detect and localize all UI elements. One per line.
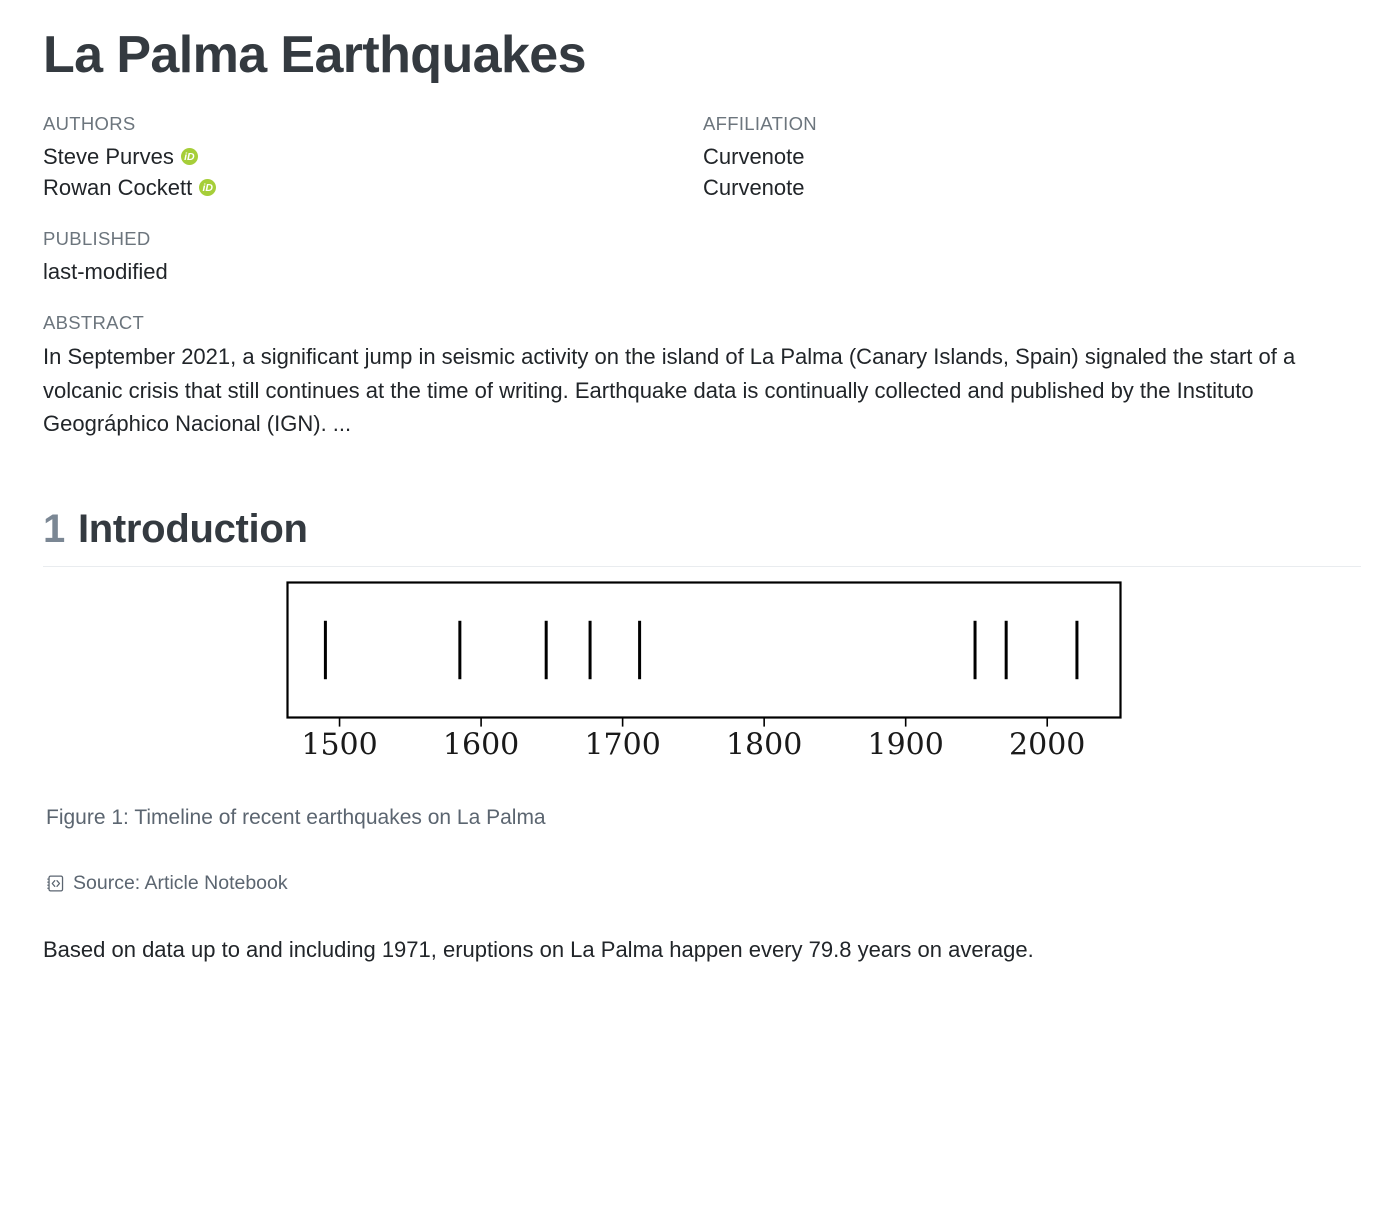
body-paragraph: Based on data up to and including 1971, … [43,933,1293,966]
figure-source-label: Source: Article Notebook [73,872,288,895]
authors-label: AUTHORS [43,110,703,138]
section-title: Introduction [78,507,308,552]
x-tick-label: 1800 [726,727,802,762]
x-tick-label: 1500 [301,727,377,762]
author-name: Rowan Cockett [43,172,192,203]
affiliation-value: Curvenote [703,141,1360,172]
figure-1: 150016001700180019002000 Figure 1: Timel… [43,567,1360,832]
x-axis-ticks [340,717,1048,726]
x-axis-tick-labels: 150016001700180019002000 [301,727,1085,762]
author-entry: Rowan Cockett [43,172,703,203]
x-tick-label: 1900 [868,727,944,762]
affiliation-value: Curvenote [703,172,1360,203]
section-number: 1 [43,507,65,552]
figure-caption: Figure 1: Timeline of recent earthquakes… [43,803,1360,832]
abstract-text: In September 2021, a significant jump in… [43,340,1353,440]
figure-source-line[interactable]: Source: Article Notebook [43,872,1360,895]
x-tick-label: 1700 [584,727,660,762]
orcid-icon[interactable] [181,148,198,165]
x-tick-label: 2000 [1009,727,1085,762]
author-name: Steve Purves [43,141,174,172]
earthquake-timeline-rugplot: 150016001700180019002000 [284,579,1144,769]
orcid-icon[interactable] [199,179,216,196]
abstract-label: ABSTRACT [43,309,1360,337]
document-page: La Palma Earthquakes AUTHORS Steve Purve… [0,0,1382,966]
published-block: PUBLISHED last-modified [43,225,1360,287]
published-label: PUBLISHED [43,225,1360,253]
affiliation-column: AFFILIATION Curvenote Curvenote [703,110,1360,203]
metadata-grid: AUTHORS Steve Purves Rowan Cockett AFFIL… [43,110,1360,203]
notebook-code-icon [46,874,65,893]
abstract-block: ABSTRACT In September 2021, a significan… [43,309,1360,440]
page-title: La Palma Earthquakes [43,26,1360,84]
affiliation-label: AFFILIATION [703,110,1360,138]
figure-plot-area: 150016001700180019002000 [43,567,1360,803]
section-heading: 1 Introduction [43,507,1360,566]
authors-column: AUTHORS Steve Purves Rowan Cockett [43,110,703,203]
plot-frame [288,582,1121,717]
author-entry: Steve Purves [43,141,703,172]
published-value: last-modified [43,256,1360,287]
x-tick-label: 1600 [443,727,519,762]
